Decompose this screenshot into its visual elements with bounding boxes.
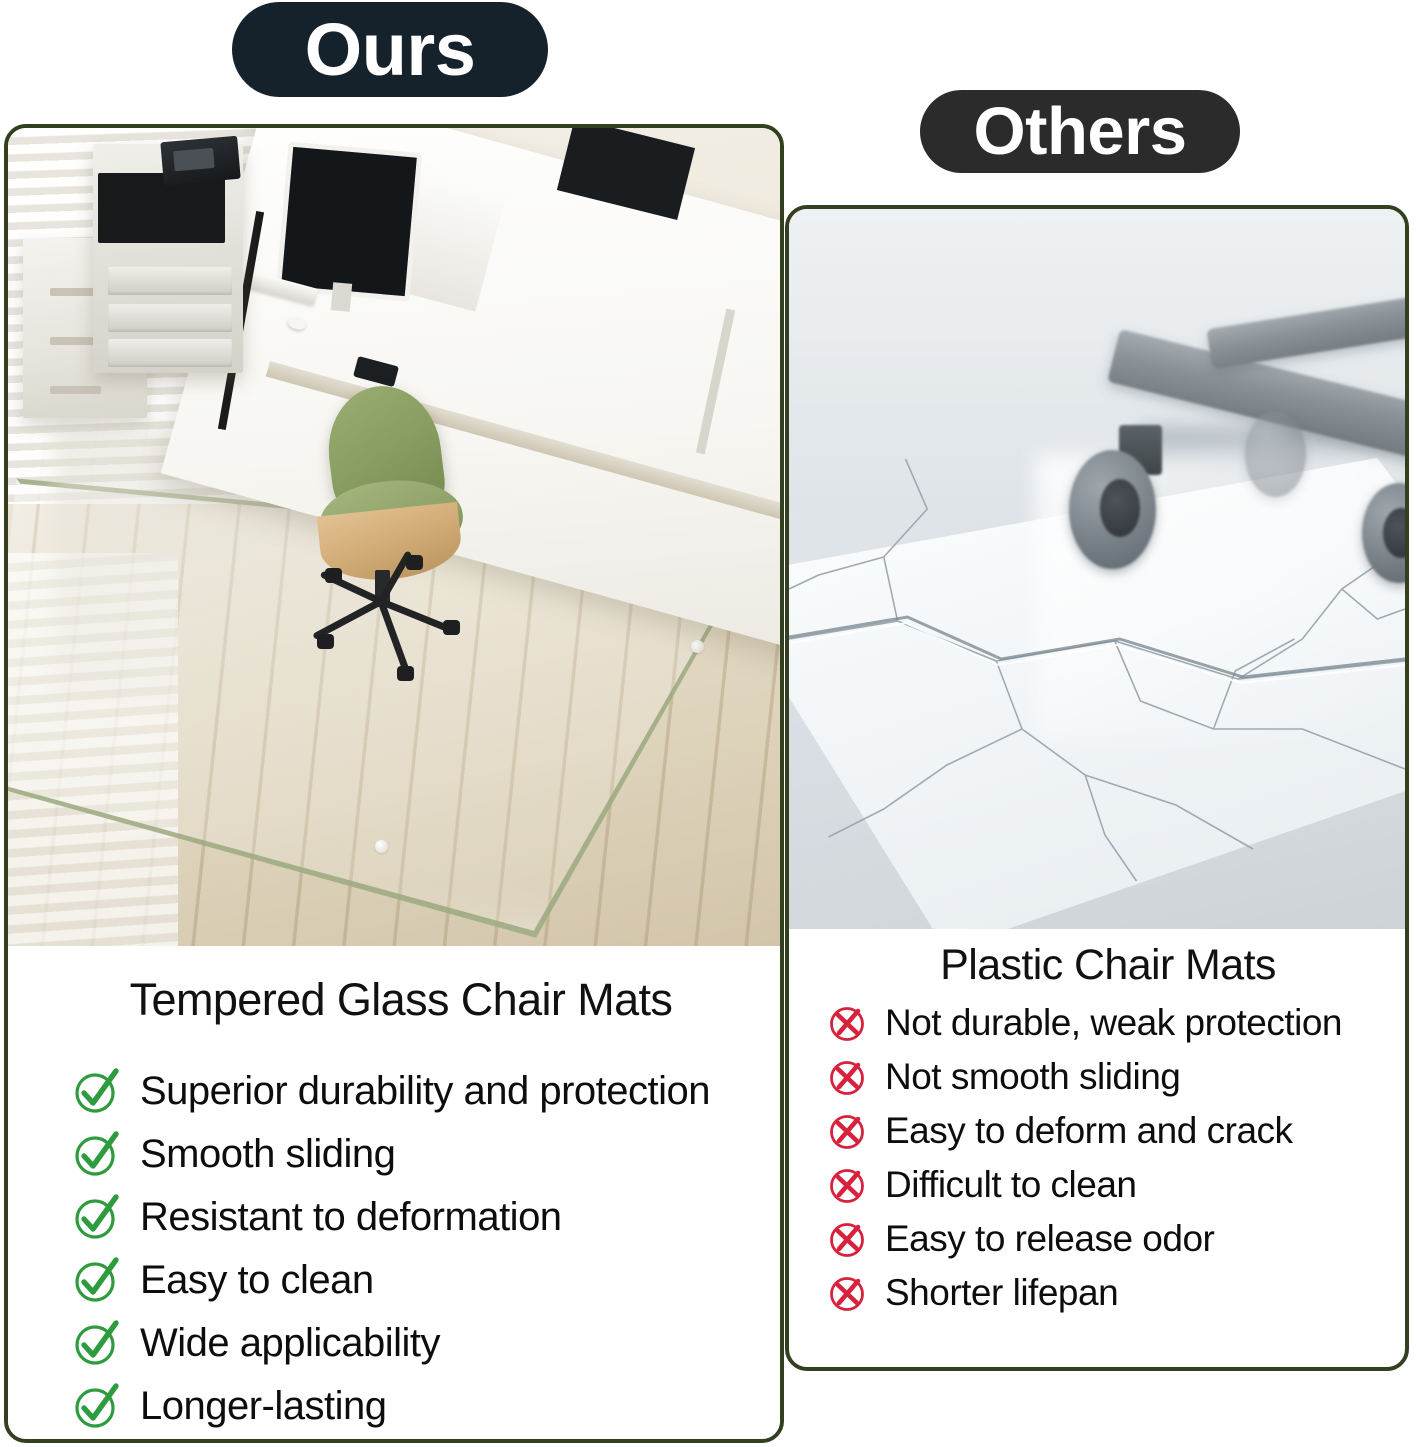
chair-caster-wheel-reflection <box>1245 411 1307 497</box>
chair-caster <box>397 666 414 681</box>
chair-caster <box>406 555 423 570</box>
cross-circle-icon <box>827 1218 869 1260</box>
list-item: Not smooth sliding <box>789 1050 1405 1104</box>
list-item: Resistant to deformation <box>8 1186 780 1249</box>
cross-circle-icon <box>827 1272 869 1314</box>
list-item-label: Difficult to clean <box>885 1164 1137 1206</box>
heading-ours: Tempered Glass Chair Mats <box>8 974 780 1026</box>
badge-ours: Ours <box>232 2 548 97</box>
printer-scanner-slot <box>98 173 225 243</box>
printer-tray <box>108 339 232 367</box>
list-item: Smooth sliding <box>8 1123 780 1186</box>
pros-list: Superior durability and protection Smoot… <box>8 1060 780 1438</box>
list-item-label: Easy to deform and crack <box>885 1110 1293 1152</box>
check-circle-icon <box>72 1257 120 1305</box>
list-item-label: Not durable, weak protection <box>885 1002 1342 1044</box>
computer-monitor <box>276 141 422 301</box>
list-item: Difficult to clean <box>789 1158 1405 1212</box>
photo-ours <box>8 128 780 946</box>
cross-circle-icon <box>827 1110 869 1152</box>
heading-others: Plastic Chair Mats <box>789 941 1405 990</box>
list-item: Easy to clean <box>8 1249 780 1312</box>
list-item: Wide applicability <box>8 1312 780 1375</box>
list-item: Longer-lasting <box>8 1375 780 1438</box>
list-item: Shorter lifepan <box>789 1266 1405 1320</box>
list-item-label: Resistant to deformation <box>140 1195 562 1240</box>
list-item-label: Smooth sliding <box>140 1132 395 1177</box>
list-item-label: Easy to clean <box>140 1258 374 1303</box>
badge-others: Others <box>920 90 1240 173</box>
glass-mat-dot <box>375 840 388 853</box>
cross-circle-icon <box>827 1164 869 1206</box>
check-circle-icon <box>72 1068 120 1116</box>
printer-tray <box>108 304 232 332</box>
list-item-label: Not smooth sliding <box>885 1056 1180 1098</box>
list-item-label: Wide applicability <box>140 1321 440 1366</box>
check-circle-icon <box>72 1131 120 1179</box>
cross-circle-icon <box>827 1056 869 1098</box>
list-item-label: Easy to release odor <box>885 1218 1214 1260</box>
badge-others-label: Others <box>974 93 1187 170</box>
photo-others <box>789 209 1405 929</box>
list-item: Superior durability and protection <box>8 1060 780 1123</box>
list-item: Easy to deform and crack <box>789 1104 1405 1158</box>
check-circle-icon <box>72 1194 120 1242</box>
monitor-stand <box>331 283 352 312</box>
cross-circle-icon <box>827 1002 869 1044</box>
printer-control-panel <box>161 136 242 185</box>
list-item: Not durable, weak protection <box>789 996 1405 1050</box>
list-item: Easy to release odor <box>789 1212 1405 1266</box>
panel-others: Plastic Chair Mats Not durable, weak pro… <box>789 929 1405 1320</box>
list-item-label: Shorter lifepan <box>885 1272 1118 1314</box>
list-item-label: Superior durability and protection <box>140 1069 710 1114</box>
cabinet-handle <box>50 386 100 394</box>
comparison-card-others: Plastic Chair Mats Not durable, weak pro… <box>785 205 1409 1371</box>
cons-list: Not durable, weak protection Not smooth … <box>789 996 1405 1320</box>
chair-caster <box>317 634 334 649</box>
list-item-label: Longer-lasting <box>140 1384 387 1429</box>
printer-tray <box>108 267 232 295</box>
check-circle-icon <box>72 1320 120 1368</box>
chair-caster <box>325 568 342 583</box>
caster-hub <box>1100 479 1140 537</box>
check-circle-icon <box>72 1383 120 1431</box>
chair-caster <box>443 620 460 635</box>
comparison-card-ours: Tempered Glass Chair Mats Superior durab… <box>4 124 784 1443</box>
badge-ours-label: Ours <box>305 7 476 92</box>
panel-ours: Tempered Glass Chair Mats Superior durab… <box>8 946 780 1438</box>
